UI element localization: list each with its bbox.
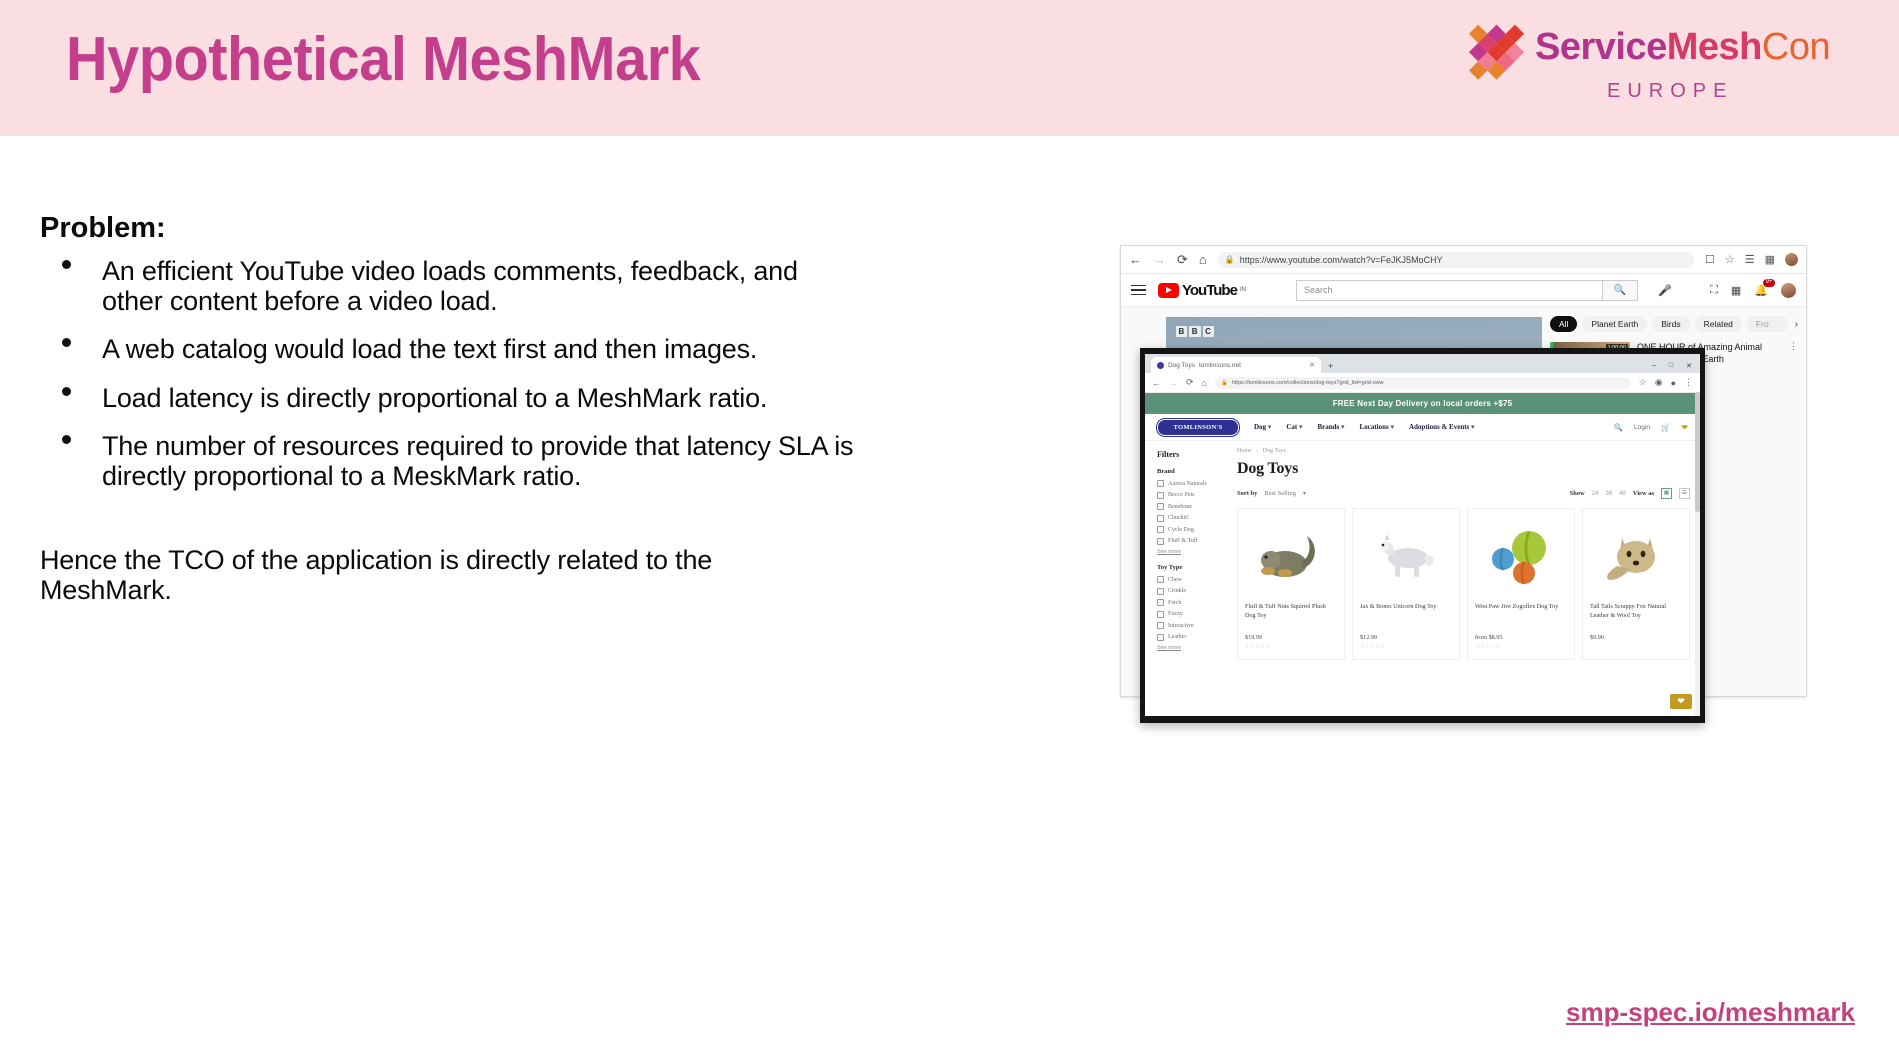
logo-part-con: Con bbox=[1762, 26, 1830, 68]
filter-option[interactable]: Interactive bbox=[1157, 622, 1223, 629]
search-input[interactable]: Search bbox=[1297, 285, 1602, 295]
show-option-24[interactable]: 24 bbox=[1592, 491, 1599, 497]
filter-option[interactable]: Leather bbox=[1157, 634, 1223, 641]
nav-item-cat[interactable]: Cat ▾ bbox=[1286, 423, 1302, 431]
meshmark-spec-link[interactable]: smp-spec.io/meshmark bbox=[1566, 997, 1855, 1028]
promo-banner: FREE Next Day Delivery on local orders +… bbox=[1145, 393, 1700, 414]
chip-all[interactable]: All bbox=[1550, 316, 1577, 332]
filter-option[interactable]: Cycle Dog bbox=[1157, 526, 1223, 533]
logo-subtitle: EUROPE bbox=[1607, 80, 1733, 103]
view-as-label: View as bbox=[1633, 490, 1654, 497]
list-view-icon[interactable]: ☰ bbox=[1679, 488, 1690, 499]
problem-heading: Problem: bbox=[40, 212, 166, 245]
product-price: from $8.95 bbox=[1475, 634, 1567, 641]
back-arrow-icon[interactable]: ← bbox=[1129, 253, 1142, 266]
collections-icon[interactable]: ☐ bbox=[1705, 253, 1715, 266]
show-label: Show bbox=[1570, 490, 1585, 497]
product-card[interactable]: West Paw Jive Zogoflex Dog Toy from $8.9… bbox=[1467, 508, 1575, 660]
sort-by-label: Sort by bbox=[1237, 490, 1257, 497]
create-video-icon[interactable]: ⛶ bbox=[1710, 284, 1718, 297]
chip-planet-earth[interactable]: Planet Earth bbox=[1582, 316, 1647, 332]
bullet-text: Load latency is directly proportional to… bbox=[102, 383, 767, 413]
chevron-right-icon[interactable]: › bbox=[1795, 319, 1798, 330]
product-image bbox=[1475, 517, 1567, 595]
youtube-masthead-actions: ⛶ ▦ 🔔 9+ bbox=[1710, 283, 1796, 298]
filter-option[interactable]: Crinkle bbox=[1157, 588, 1223, 595]
unicorn-dog-toy-image bbox=[1370, 526, 1442, 586]
browser-chrome-toolbar: ← → ⟳ ⌂ 🔒 https://www.youtube.com/watch?… bbox=[1121, 246, 1806, 274]
product-name: Tall Tails Scrappy Fox Natural Leather &… bbox=[1590, 603, 1682, 629]
youtube-wordmark: YouTube bbox=[1182, 282, 1237, 299]
youtube-country-code: IN bbox=[1240, 287, 1246, 293]
profile-avatar[interactable]: ● bbox=[1671, 378, 1676, 388]
product-price: $9.90 bbox=[1590, 634, 1682, 641]
sort-by-value[interactable]: Best Selling bbox=[1264, 490, 1296, 497]
tab-favicon-icon bbox=[1157, 362, 1164, 369]
checkbox-icon[interactable] bbox=[1157, 503, 1164, 510]
catalog-page-title: Dog Toys bbox=[1237, 460, 1690, 478]
product-rating: ☆☆☆☆☆ bbox=[1475, 644, 1567, 650]
catalog-body: Filters Brand Aurora Naturals Becco Pets… bbox=[1145, 441, 1700, 716]
window-controls: – □ ✕ bbox=[1652, 362, 1700, 373]
list-item: An efficient YouTube video loads comment… bbox=[40, 256, 860, 316]
breadcrumb-home[interactable]: Home bbox=[1237, 448, 1252, 454]
product-grid: Fluff & Tuff Nuts Squirrel Plush Dog Toy… bbox=[1237, 508, 1690, 660]
checkbox-icon[interactable] bbox=[1157, 538, 1164, 545]
product-image bbox=[1590, 517, 1682, 595]
logo-part-mesh: Mesh bbox=[1667, 26, 1762, 68]
search-icon[interactable]: 🔍 bbox=[1614, 423, 1623, 432]
grid-view-icon[interactable]: ▦ bbox=[1661, 488, 1672, 499]
wishlist-heart-icon[interactable]: ❤ bbox=[1681, 423, 1688, 432]
product-price: $19.99 bbox=[1245, 634, 1337, 641]
bullet-text: An efficient YouTube video loads comment… bbox=[102, 256, 798, 316]
tomlinsons-browser-frame: Dog Toys tomlinsons.net ✕ + – □ ✕ ← → ⟳ … bbox=[1140, 348, 1705, 723]
hamburger-menu-icon[interactable] bbox=[1131, 282, 1146, 299]
bullet-dot-icon bbox=[62, 387, 71, 396]
tomlinsons-browser-window: Dog Toys tomlinsons.net ✕ + – □ ✕ ← → ⟳ … bbox=[1145, 354, 1700, 716]
filters-heading: Filters bbox=[1157, 450, 1223, 459]
checkbox-icon[interactable] bbox=[1157, 576, 1164, 583]
notification-badge: 9+ bbox=[1763, 279, 1775, 288]
product-name: West Paw Jive Zogoflex Dog Toy bbox=[1475, 603, 1567, 629]
new-tab-icon[interactable]: + bbox=[1328, 361, 1333, 371]
browser-tab-strip: Dog Toys tomlinsons.net ✕ + – □ ✕ bbox=[1145, 354, 1700, 373]
forward-arrow-icon: → bbox=[1169, 378, 1178, 388]
address-bar[interactable]: 🔒 https://www.youtube.com/watch?v=FeJKJ5… bbox=[1218, 252, 1694, 268]
nav-item-locations[interactable]: Locations ▾ bbox=[1360, 423, 1394, 431]
tab-subtitle: tomlinsons.net bbox=[1199, 362, 1241, 369]
youtube-masthead: YouTube IN Search 🔍 🎤 ⛶ ▦ 🔔 9+ bbox=[1121, 274, 1806, 307]
nav-item-dog[interactable]: Dog ▾ bbox=[1254, 423, 1271, 431]
more-options-icon[interactable]: ⋮ bbox=[1789, 342, 1798, 388]
chip-related[interactable]: Related bbox=[1695, 316, 1742, 332]
nav-item-brands[interactable]: Brands ▾ bbox=[1317, 423, 1344, 431]
wishlist-floating-button[interactable]: ❤ bbox=[1670, 694, 1692, 709]
chip-from[interactable]: Fro bbox=[1747, 316, 1788, 332]
product-rating: ☆☆☆☆☆ bbox=[1245, 644, 1337, 650]
nav-item-adoptions-events[interactable]: Adoptions & Events ▾ bbox=[1409, 423, 1475, 431]
forward-arrow-icon: → bbox=[1153, 253, 1166, 266]
checkbox-icon[interactable] bbox=[1157, 515, 1164, 522]
checkbox-icon[interactable] bbox=[1157, 526, 1164, 533]
youtube-account-avatar[interactable] bbox=[1781, 283, 1796, 298]
see-more-toy-type-link[interactable]: See more bbox=[1157, 645, 1223, 651]
filter-option[interactable]: Aurora Naturals bbox=[1157, 480, 1223, 487]
checkbox-icon[interactable] bbox=[1157, 599, 1164, 606]
chevron-down-icon[interactable]: ▾ bbox=[1303, 490, 1306, 497]
minimize-icon[interactable]: – bbox=[1652, 362, 1656, 370]
fox-leather-toy-image bbox=[1600, 526, 1672, 586]
checkbox-icon[interactable] bbox=[1157, 492, 1164, 499]
breadcrumb-separator: › bbox=[1256, 448, 1258, 454]
list-item: A web catalog would load the text first … bbox=[40, 334, 860, 364]
product-card[interactable]: Jax & Bones Unicorn Dog Toy $12.99 ☆☆☆☆☆ bbox=[1352, 508, 1460, 660]
address-bar-url: https://tomlinsons.com/collections/dog-t… bbox=[1232, 380, 1384, 386]
youtube-search-box[interactable]: Search 🔍 bbox=[1296, 280, 1638, 301]
logo-wordmark: ServiceMeshCon bbox=[1535, 26, 1830, 69]
product-image bbox=[1245, 517, 1337, 595]
page-scrollbar[interactable] bbox=[1695, 392, 1700, 716]
favorite-star-icon[interactable]: ☆ bbox=[1725, 253, 1735, 266]
filter-option[interactable]: Chuckit! bbox=[1157, 515, 1223, 522]
filter-option[interactable]: Benebone bbox=[1157, 503, 1223, 510]
profile-avatar[interactable] bbox=[1785, 253, 1798, 266]
site-navigation: TOMLINSON'S Dog ▾ Cat ▾ Brands ▾ Locatio… bbox=[1145, 414, 1700, 441]
filter-option[interactable]: Chew bbox=[1157, 576, 1223, 583]
breadcrumb: Home › Dog Toys bbox=[1237, 448, 1690, 454]
shopping-cart-icon[interactable]: 🛒 bbox=[1661, 423, 1670, 432]
checkbox-icon[interactable] bbox=[1157, 622, 1164, 629]
lock-icon: 🔒 bbox=[1221, 380, 1228, 386]
zogoflex-dog-toys-image bbox=[1485, 526, 1557, 586]
breadcrumb-current: Dog Toys bbox=[1263, 448, 1286, 454]
product-image bbox=[1360, 517, 1452, 595]
favorite-star-icon[interactable]: ☆ bbox=[1639, 377, 1647, 388]
checkbox-icon[interactable] bbox=[1157, 634, 1164, 641]
youtube-logo[interactable]: YouTube IN bbox=[1158, 282, 1246, 299]
servicemeshcon-logo-mark bbox=[1457, 16, 1529, 94]
list-item: The number of resources required to prov… bbox=[40, 431, 860, 491]
filter-option[interactable]: Fetch bbox=[1157, 599, 1223, 606]
home-icon[interactable]: ⌂ bbox=[1202, 378, 1207, 388]
address-bar[interactable]: 🔒 https://tomlinsons.com/collections/dog… bbox=[1215, 377, 1631, 389]
squirrel-plush-toy-image bbox=[1255, 526, 1327, 586]
reload-icon[interactable]: ⟳ bbox=[1177, 253, 1188, 266]
bullet-text: The number of resources required to prov… bbox=[102, 431, 853, 491]
product-price: $12.99 bbox=[1360, 634, 1452, 641]
browser-menu-icon[interactable]: ⋮ bbox=[1684, 377, 1693, 388]
product-card[interactable]: Fluff & Tuff Nuts Squirrel Plush Dog Toy… bbox=[1237, 508, 1345, 660]
reload-icon[interactable]: ⟳ bbox=[1186, 377, 1194, 388]
browser-chrome-actions: ☐ ☆ ☰ ▦ bbox=[1705, 253, 1798, 266]
tab-title: Dog Toys bbox=[1168, 362, 1195, 369]
bullet-dot-icon bbox=[62, 435, 71, 444]
tomlinsons-chrome-toolbar: ← → ⟳ ⌂ 🔒 https://tomlinsons.com/collect… bbox=[1145, 373, 1700, 393]
close-tab-icon[interactable]: ✕ bbox=[1309, 361, 1315, 369]
show-option-36[interactable]: 36 bbox=[1605, 491, 1612, 497]
apps-grid-icon[interactable]: ▦ bbox=[1731, 284, 1741, 297]
favorites-list-icon[interactable]: ☰ bbox=[1745, 253, 1755, 266]
bullet-dot-icon bbox=[62, 260, 71, 269]
page-title: Hypothetical MeshMark bbox=[66, 24, 700, 95]
checkbox-icon[interactable] bbox=[1157, 611, 1164, 618]
product-name: Fluff & Tuff Nuts Squirrel Plush Dog Toy bbox=[1245, 603, 1337, 629]
bbc-watermark-icon: BBC bbox=[1176, 326, 1214, 337]
filter-group-brand-label: Brand bbox=[1157, 468, 1223, 475]
screenshot-composite: ← → ⟳ ⌂ 🔒 https://www.youtube.com/watch?… bbox=[1120, 245, 1840, 885]
back-arrow-icon[interactable]: ← bbox=[1152, 378, 1161, 388]
filter-option[interactable]: Fuzzy bbox=[1157, 611, 1223, 618]
maximize-icon[interactable]: □ bbox=[1669, 362, 1673, 370]
bullet-dot-icon bbox=[62, 338, 71, 347]
search-icon[interactable]: 🔍 bbox=[1602, 281, 1637, 300]
bullet-list: An efficient YouTube video loads comment… bbox=[40, 256, 860, 509]
filter-option[interactable]: Fluff & Tuff bbox=[1157, 538, 1223, 545]
servicemeshcon-logo: ServiceMeshCon EUROPE bbox=[1457, 14, 1857, 122]
browser-menu-icon[interactable]: ▦ bbox=[1765, 253, 1775, 266]
close-window-icon[interactable]: ✕ bbox=[1686, 362, 1692, 370]
checkbox-icon[interactable] bbox=[1157, 480, 1164, 487]
address-bar-url: https://www.youtube.com/watch?v=FeJKJ5Mo… bbox=[1240, 255, 1443, 265]
filters-sidebar: Filters Brand Aurora Naturals Becco Pets… bbox=[1145, 441, 1223, 716]
notifications-bell-icon[interactable]: 🔔 9+ bbox=[1754, 284, 1768, 297]
microphone-icon[interactable]: 🎤 bbox=[1658, 284, 1672, 297]
logo-part-service: Service bbox=[1535, 26, 1667, 68]
product-card[interactable]: Tall Tails Scrappy Fox Natural Leather &… bbox=[1582, 508, 1690, 660]
catalog-main: Home › Dog Toys Dog Toys Sort by Best Se… bbox=[1223, 441, 1700, 716]
chip-birds[interactable]: Birds bbox=[1652, 316, 1689, 332]
closing-paragraph: Hence the TCO of the application is dire… bbox=[40, 545, 830, 605]
product-name: Jax & Bones Unicorn Dog Toy bbox=[1360, 603, 1452, 629]
site-nav-actions: 🔍 Login 🛒 ❤ bbox=[1614, 423, 1688, 432]
bullet-text: A web catalog would load the text first … bbox=[102, 334, 757, 364]
list-item: Load latency is directly proportional to… bbox=[40, 383, 860, 413]
checkbox-icon[interactable] bbox=[1157, 588, 1164, 595]
login-link[interactable]: Login bbox=[1634, 424, 1650, 431]
show-option-48[interactable]: 48 bbox=[1619, 491, 1626, 497]
extension-icon[interactable]: ◉ bbox=[1655, 377, 1663, 388]
see-more-brand-link[interactable]: See more bbox=[1157, 549, 1223, 555]
browser-tab[interactable]: Dog Toys tomlinsons.net ✕ bbox=[1151, 357, 1321, 373]
sort-and-view-bar: Sort by Best Selling ▾ Show 24 36 48 Vie… bbox=[1237, 488, 1690, 499]
filter-option[interactable]: Becco Pets bbox=[1157, 492, 1223, 499]
filter-chip-row: All Planet Earth Birds Related Fro › bbox=[1550, 316, 1798, 332]
product-rating: ☆☆☆☆☆ bbox=[1360, 644, 1452, 650]
filter-group-toy-type-label: Toy Type bbox=[1157, 564, 1223, 571]
lock-icon: 🔒 bbox=[1225, 255, 1235, 264]
youtube-play-icon bbox=[1158, 283, 1179, 298]
view-controls: Show 24 36 48 View as ▦ ☰ bbox=[1570, 488, 1691, 499]
home-icon[interactable]: ⌂ bbox=[1199, 253, 1207, 266]
tomlinsons-brand-logo[interactable]: TOMLINSON'S bbox=[1157, 419, 1239, 436]
